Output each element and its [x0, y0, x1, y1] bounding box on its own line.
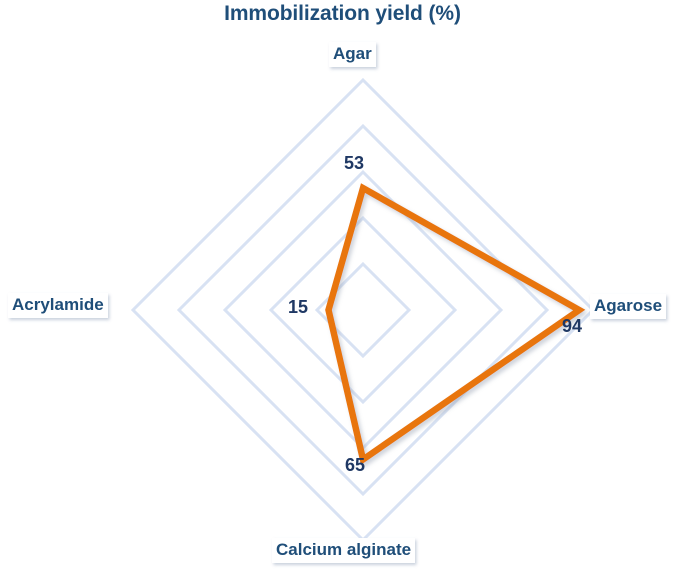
axis-label-agar: Agar	[329, 42, 376, 67]
value-label-agarose: 94	[562, 317, 582, 335]
grid-ring-4	[179, 126, 547, 494]
axis-label-acrylamide: Acrylamide	[8, 293, 108, 318]
axis-label-agarose: Agarose	[590, 294, 666, 319]
grid-ring-3	[225, 172, 501, 448]
value-label-calcium-alginate: 65	[345, 456, 365, 474]
radar-plot-area	[0, 0, 685, 584]
chart-title: Immobilization yield (%)	[0, 2, 685, 26]
axis-label-calcium-alginate: Calcium alginate	[272, 538, 415, 563]
radar-series-polygon	[329, 188, 580, 459]
value-label-agar: 53	[344, 154, 364, 172]
value-label-acrylamide: 15	[288, 298, 308, 316]
radar-chart: Immobilization yield (%) Agar Agarose Ca…	[0, 0, 685, 584]
